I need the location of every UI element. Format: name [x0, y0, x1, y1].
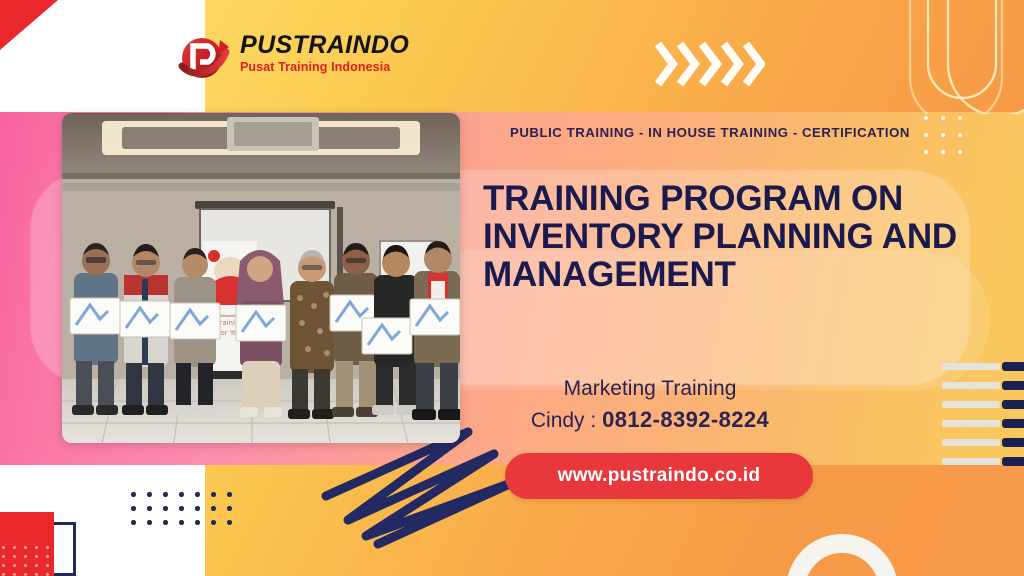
bar-dark — [1002, 438, 1024, 447]
eyebrow-text: PUBLIC TRAINING - IN HOUSE TRAINING - CE… — [510, 125, 910, 140]
contact-role: Marketing Training — [470, 374, 830, 404]
dot-grid-light-decor — [924, 116, 968, 164]
corner-arc-decor — [900, 0, 1024, 114]
bar-light — [942, 420, 1000, 427]
chevron-decor-group — [655, 38, 765, 90]
bar-dark — [1002, 419, 1024, 428]
bar-dark — [1002, 457, 1024, 466]
bar-light — [942, 439, 1000, 446]
brand-tagline: Pusat Training Indonesia — [240, 59, 409, 75]
website-cta-button[interactable]: www.pustraindo.co.id — [505, 453, 813, 499]
bar-dark — [1002, 381, 1024, 390]
bar-light — [942, 363, 1000, 370]
bar-dark — [1002, 362, 1024, 371]
dot-grid-navy-decor — [131, 492, 233, 528]
contact-person-label: Cindy : — [531, 409, 596, 432]
contact-block: Marketing Training Cindy : 0812-8392-822… — [470, 374, 830, 437]
brand-logo[interactable]: PUSTRAINDO Pusat Training Indonesia — [176, 28, 406, 84]
bar-dark — [1002, 400, 1024, 409]
brand-logo-text: PUSTRAINDO Pusat Training Indonesia — [240, 32, 409, 75]
promo-banner: PUSTRAINDO Pusat Training Indonesia — [0, 0, 1024, 576]
photo-illustration: Training for You — [62, 113, 460, 443]
page-title: TRAINING PROGRAM ON INVENTORY PLANNING A… — [483, 180, 995, 294]
brand-name: PUSTRAINDO — [240, 32, 409, 58]
chevron-right-icon — [655, 38, 765, 90]
contact-phone[interactable]: 0812-8392-8224 — [602, 407, 769, 432]
contact-person: Cindy : 0812-8392-8224 — [470, 404, 830, 437]
bar-stripes-decor — [942, 363, 1024, 479]
bar-light — [942, 382, 1000, 389]
bar-light — [942, 401, 1000, 408]
training-group-photo: Training for You — [62, 113, 460, 443]
bar-light — [942, 458, 1000, 465]
website-url: www.pustraindo.co.id — [558, 465, 761, 487]
red-square-dot-texture — [2, 546, 54, 576]
pustraindo-sphere-arrow-logo-icon — [176, 30, 232, 82]
